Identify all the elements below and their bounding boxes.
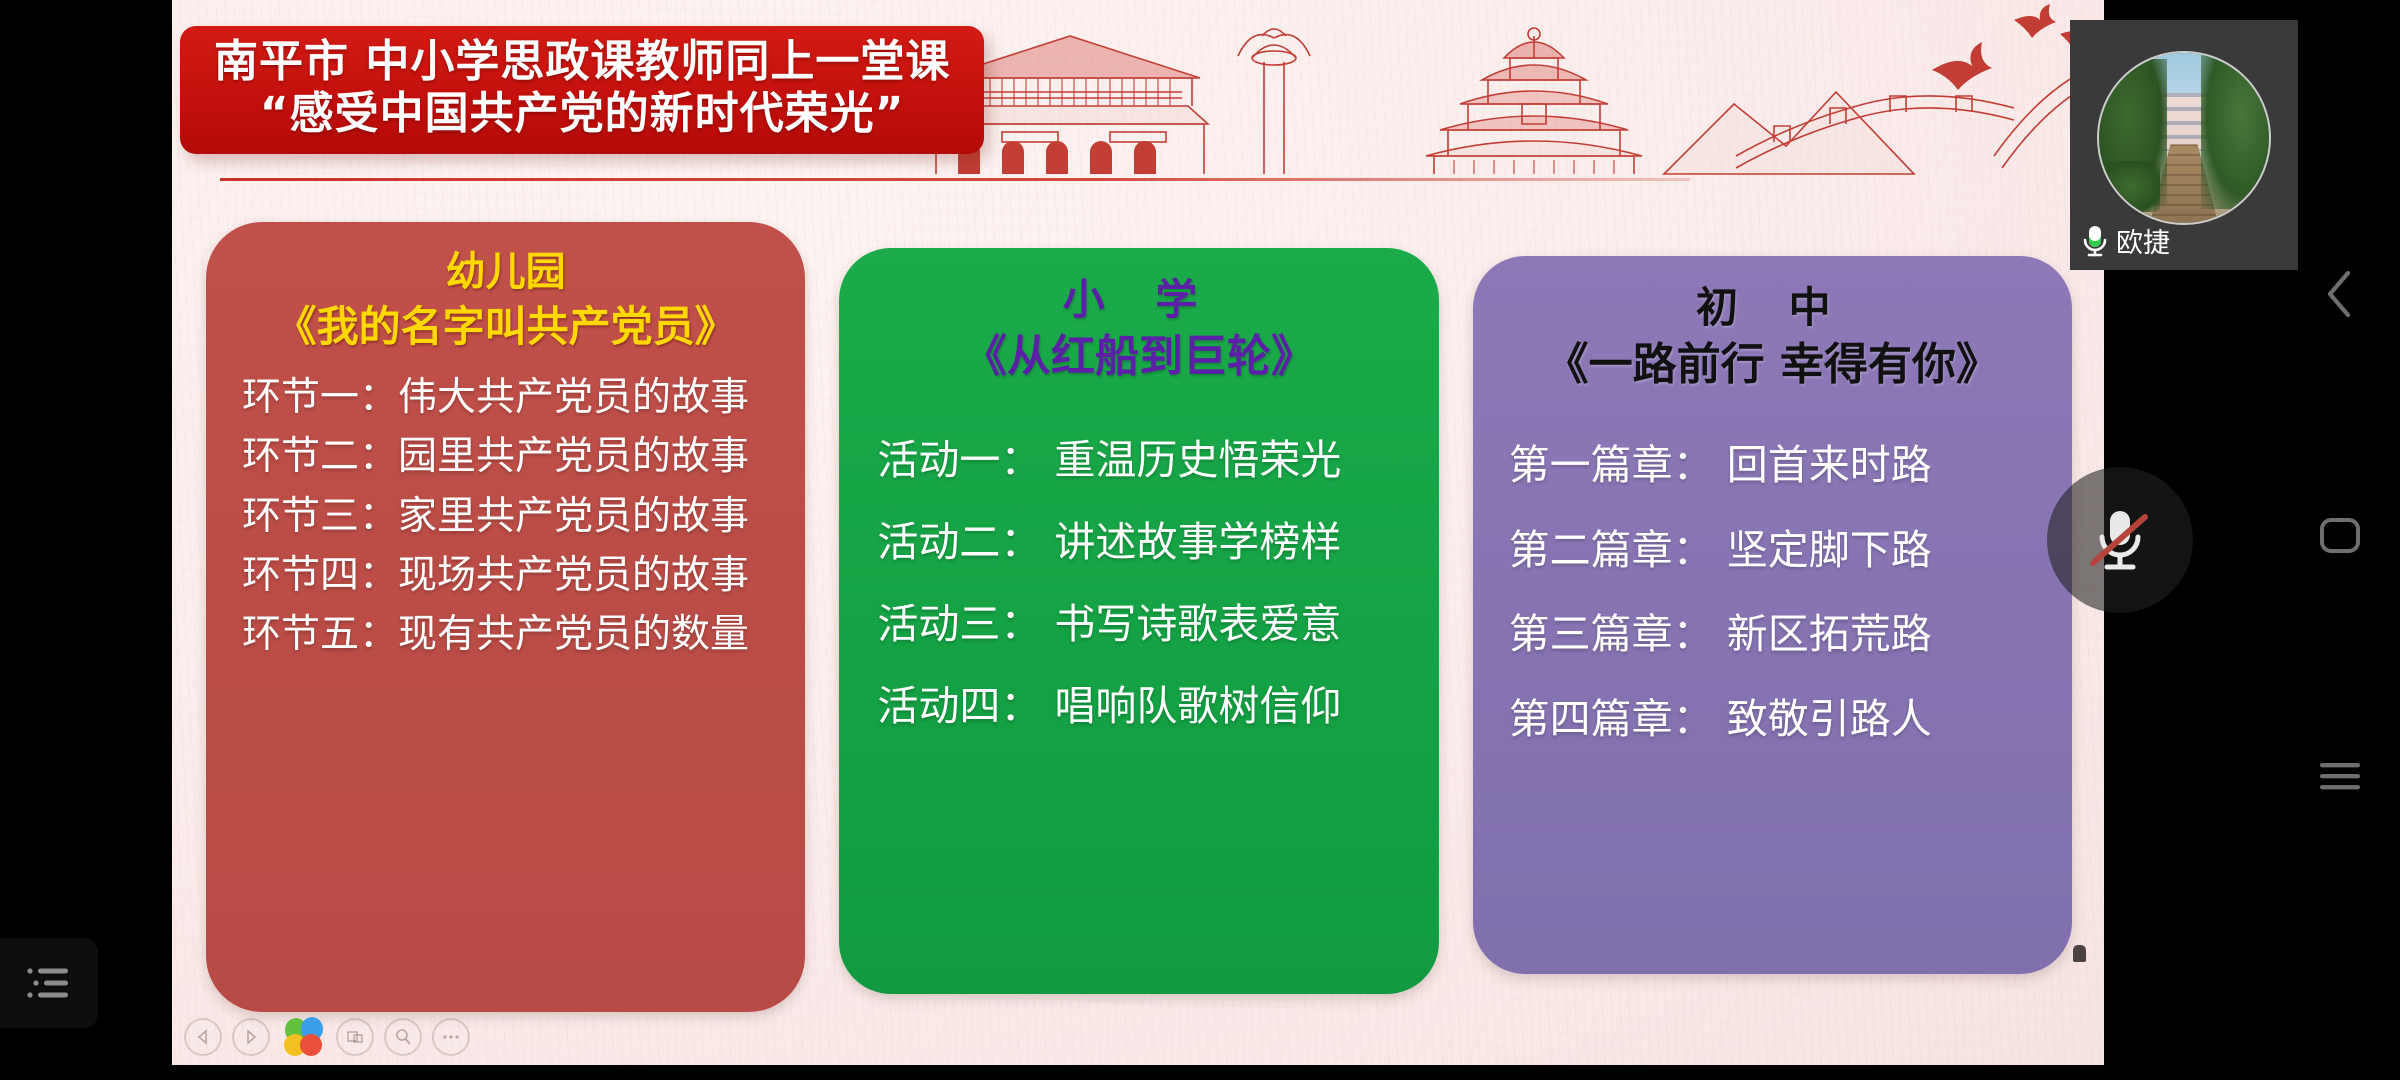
mute-toggle-button[interactable] xyxy=(2047,467,2193,613)
card-primary-list: 活动一： 重温历史悟荣光 活动二： 讲述故事学榜样 活动三： 书写诗歌表爱意 活… xyxy=(853,419,1424,747)
list-item: 环节二：园里共产党员的故事 xyxy=(242,427,791,486)
banner-box: 南平市 中小学思政课教师同上一堂课 “感受中国共产党的新时代荣光” xyxy=(180,26,984,154)
laser-pointer-icon[interactable] xyxy=(336,1018,374,1056)
navigation-rail xyxy=(2280,0,2400,1080)
outline-panel[interactable] xyxy=(0,938,98,1028)
participant-name: 欧捷 xyxy=(2116,221,2170,260)
list-item: 环节四：现场共产党员的故事 xyxy=(242,546,791,605)
list-item: 环节五：现有共产党员的数量 xyxy=(242,605,791,664)
card-primary-subtitle: 《从红船到巨轮》 xyxy=(853,328,1424,385)
slide-edge-marker xyxy=(2073,945,2086,962)
list-item: 第四篇章： 致敬引路人 xyxy=(1509,677,2058,761)
list-item: 活动四： 唱响队歌树信仰 xyxy=(877,665,1424,747)
card-junior-high[interactable]: 初 中 《一路前行 幸得有你》 第一篇章： 回首来时路 第二篇章： 坚定脚下路 … xyxy=(1473,256,2072,974)
screen-root: 南平市 中小学思政课教师同上一堂课 “感受中国共产党的新时代荣光” 幼儿园 《我… xyxy=(0,0,2400,1080)
card-kindergarten-list: 环节一：伟大共产党员的故事 环节二：园里共产党员的故事 环节三：家里共产党员的故… xyxy=(220,368,791,664)
previous-slide-icon[interactable] xyxy=(184,1018,222,1056)
back-chevron-icon[interactable] xyxy=(2304,258,2376,330)
banner-underline xyxy=(220,178,1690,181)
home-square-icon[interactable] xyxy=(2304,500,2376,572)
participant-namebar: 欧捷 xyxy=(2080,221,2170,260)
list-item: 活动一： 重温历史悟荣光 xyxy=(877,419,1424,501)
banner-line-2: “感受中国共产党的新时代荣光” xyxy=(214,88,950,140)
menu-hamburger-icon[interactable] xyxy=(2304,740,2376,812)
cards-row: 幼儿园 《我的名字叫共产党员》 环节一：伟大共产党员的故事 环节二：园里共产党员… xyxy=(206,222,2072,1012)
microphone-icon xyxy=(2080,223,2110,259)
card-kindergarten-subtitle: 《我的名字叫共产党员》 xyxy=(220,300,791,355)
list-item: 活动三： 书写诗歌表爱意 xyxy=(877,583,1424,665)
presentation-slide[interactable]: 南平市 中小学思政课教师同上一堂课 “感受中国共产党的新时代荣光” 幼儿园 《我… xyxy=(172,0,2104,1065)
microphone-muted-icon xyxy=(2077,497,2163,583)
card-kindergarten[interactable]: 幼儿园 《我的名字叫共产党员》 环节一：伟大共产党员的故事 环节二：园里共产党员… xyxy=(206,222,805,1012)
more-options-icon[interactable] xyxy=(432,1018,470,1056)
tiananmen-great-wall-doves-line-art xyxy=(874,0,2104,184)
magnifier-icon[interactable] xyxy=(384,1018,422,1056)
card-primary-title: 小 学 xyxy=(853,274,1424,326)
slide-title-banner: 南平市 中小学思政课教师同上一堂课 “感受中国共产党的新时代荣光” xyxy=(180,26,984,154)
card-junior-subtitle: 《一路前行 幸得有你》 xyxy=(1487,336,2058,393)
card-junior-title: 初 中 xyxy=(1487,282,2058,334)
card-kindergarten-title: 幼儿园 xyxy=(220,248,791,298)
list-item: 第三篇章： 新区拓荒路 xyxy=(1509,592,2058,676)
presenter-toolbar xyxy=(184,1017,470,1057)
banner-line-1: 南平市 中小学思政课教师同上一堂课 xyxy=(214,36,950,88)
wps-logo-icon[interactable] xyxy=(280,1017,326,1057)
card-junior-list: 第一篇章： 回首来时路 第二篇章： 坚定脚下路 第三篇章： 新区拓荒路 第四篇章… xyxy=(1487,423,2058,761)
participant-video-tile[interactable]: 欧捷 xyxy=(2070,20,2298,270)
list-item: 活动二： 讲述故事学榜样 xyxy=(877,501,1424,583)
list-item: 环节一：伟大共产党员的故事 xyxy=(242,368,791,427)
list-item: 环节三：家里共产党员的故事 xyxy=(242,487,791,546)
avatar xyxy=(2097,51,2271,225)
list-item: 第二篇章： 坚定脚下路 xyxy=(1509,508,2058,592)
play-slide-icon[interactable] xyxy=(232,1018,270,1056)
outline-list-icon xyxy=(26,965,72,1001)
list-item: 第一篇章： 回首来时路 xyxy=(1509,423,2058,507)
card-primary-school[interactable]: 小 学 《从红船到巨轮》 活动一： 重温历史悟荣光 活动二： 讲述故事学榜样 活… xyxy=(839,248,1438,994)
